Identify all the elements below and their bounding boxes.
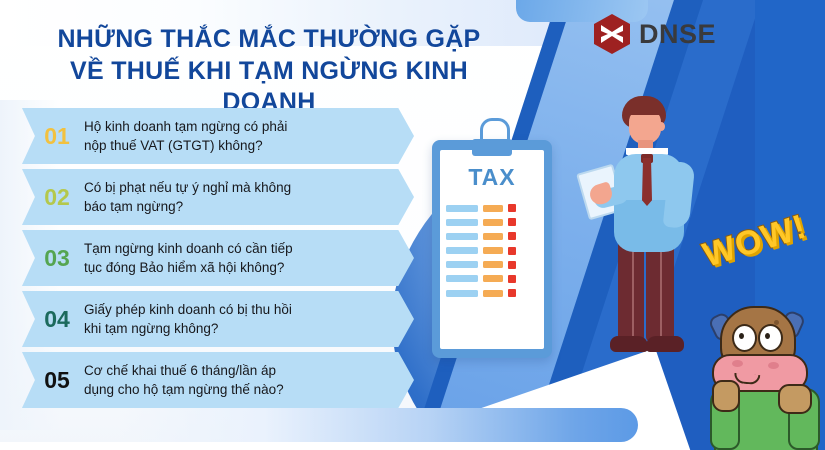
mascot-nostril-right — [768, 362, 779, 369]
list-item[interactable]: 01 Hộ kinh doanh tạm ngừng có phải nộp t… — [22, 108, 414, 164]
clipboard-rows — [446, 204, 540, 303]
list-item-number: 02 — [22, 184, 84, 211]
person-leg-left — [618, 242, 644, 342]
clipboard-label: TAX — [432, 164, 552, 191]
list-item[interactable]: 03 Tạm ngừng kinh doanh có cần tiếp tục … — [22, 230, 414, 286]
list-item-text: Tạm ngừng kinh doanh có cần tiếp tục đón… — [84, 239, 307, 277]
list-item-number: 03 — [22, 245, 84, 272]
clipboard-row — [446, 204, 540, 212]
mascot-pupil-right — [765, 333, 770, 339]
list-item-line-1: Hộ kinh doanh tạm ngừng có phải — [84, 117, 287, 136]
list-item-line-2: nộp thuế VAT (GTGT) không? — [84, 136, 287, 155]
list-item[interactable]: 04 Giấy phép kinh doanh có bị thu hồi kh… — [22, 291, 414, 347]
person-pant-crease — [660, 246, 662, 338]
mascot-hand-left — [712, 380, 740, 412]
list-item-number: 05 — [22, 367, 84, 394]
clipboard-row — [446, 247, 540, 255]
mascot-pupil-left — [739, 333, 744, 339]
businessman-illustration — [588, 96, 708, 364]
person-shoe-left — [610, 336, 648, 352]
person-fringe — [624, 100, 664, 115]
cow-mascot-icon — [706, 296, 824, 450]
list-item-text: Hộ kinh doanh tạm ngừng có phải nộp thuế… — [84, 117, 301, 155]
mascot-hand-right — [778, 384, 812, 414]
mascot-eye-right — [758, 324, 783, 352]
question-list: 01 Hộ kinh doanh tạm ngừng có phải nộp t… — [22, 108, 414, 413]
person-shoe-right — [646, 336, 684, 352]
list-item-text: Giấy phép kinh doanh có bị thu hồi khi t… — [84, 300, 306, 338]
mascot-nostril-left — [732, 360, 743, 367]
background-bottom-white — [0, 442, 470, 450]
clipboard-row — [446, 289, 540, 297]
list-item-line-2: báo tạm ngừng? — [84, 197, 291, 216]
mascot-spot — [774, 320, 779, 325]
list-item-text: Cơ chế khai thuế 6 tháng/lần áp dụng cho… — [84, 361, 298, 399]
clipboard-row — [446, 275, 540, 283]
list-item-number: 04 — [22, 306, 84, 333]
list-item[interactable]: 05 Cơ chế khai thuế 6 tháng/lần áp dụng … — [22, 352, 414, 408]
person-tie — [642, 158, 652, 206]
list-item-line-2: dụng cho hộ tạm ngừng thế nào? — [84, 380, 284, 399]
title-line-1: NHỮNG THẮC MẮC THƯỜNG GẶP — [34, 24, 504, 56]
list-item-line-1: Giấy phép kinh doanh có bị thu hồi — [84, 300, 292, 319]
clipboard-clamp-icon — [472, 118, 512, 156]
person-ear — [658, 122, 665, 131]
page-title: NHỮNG THẮC MẮC THƯỜNG GẶP VỀ THUẾ KHI TẠ… — [34, 24, 504, 119]
person-sleeve — [663, 161, 696, 229]
mascot-eye-left — [732, 324, 757, 352]
list-item-line-1: Có bị phạt nếu tự ý nghỉ mà không — [84, 178, 291, 197]
infographic-canvas: NHỮNG THẮC MẮC THƯỜNG GẶP VỀ THUẾ KHI TẠ… — [0, 0, 825, 450]
dnse-hexagon-logo-icon — [594, 14, 630, 54]
clipboard-row — [446, 218, 540, 226]
brand-logo[interactable]: DNSE — [594, 14, 716, 54]
list-item-line-1: Cơ chế khai thuế 6 tháng/lần áp — [84, 361, 284, 380]
background-bottom-gradient-bar — [118, 408, 638, 442]
list-item-number: 01 — [22, 123, 84, 150]
list-item-text: Có bị phạt nếu tự ý nghỉ mà không báo tạ… — [84, 178, 305, 216]
list-item[interactable]: 02 Có bị phạt nếu tự ý nghỉ mà không báo… — [22, 169, 414, 225]
clipboard-icon: TAX — [432, 140, 552, 358]
list-item-line-1: Tạm ngừng kinh doanh có cần tiếp — [84, 239, 293, 258]
brand-name: DNSE — [639, 19, 716, 50]
list-item-line-2: khi tạm ngừng không? — [84, 319, 292, 338]
clipboard-row — [446, 261, 540, 269]
clipboard-row — [446, 232, 540, 240]
list-item-line-2: tục đóng Bảo hiểm xã hội không? — [84, 258, 293, 277]
person-pant-crease — [632, 246, 634, 338]
